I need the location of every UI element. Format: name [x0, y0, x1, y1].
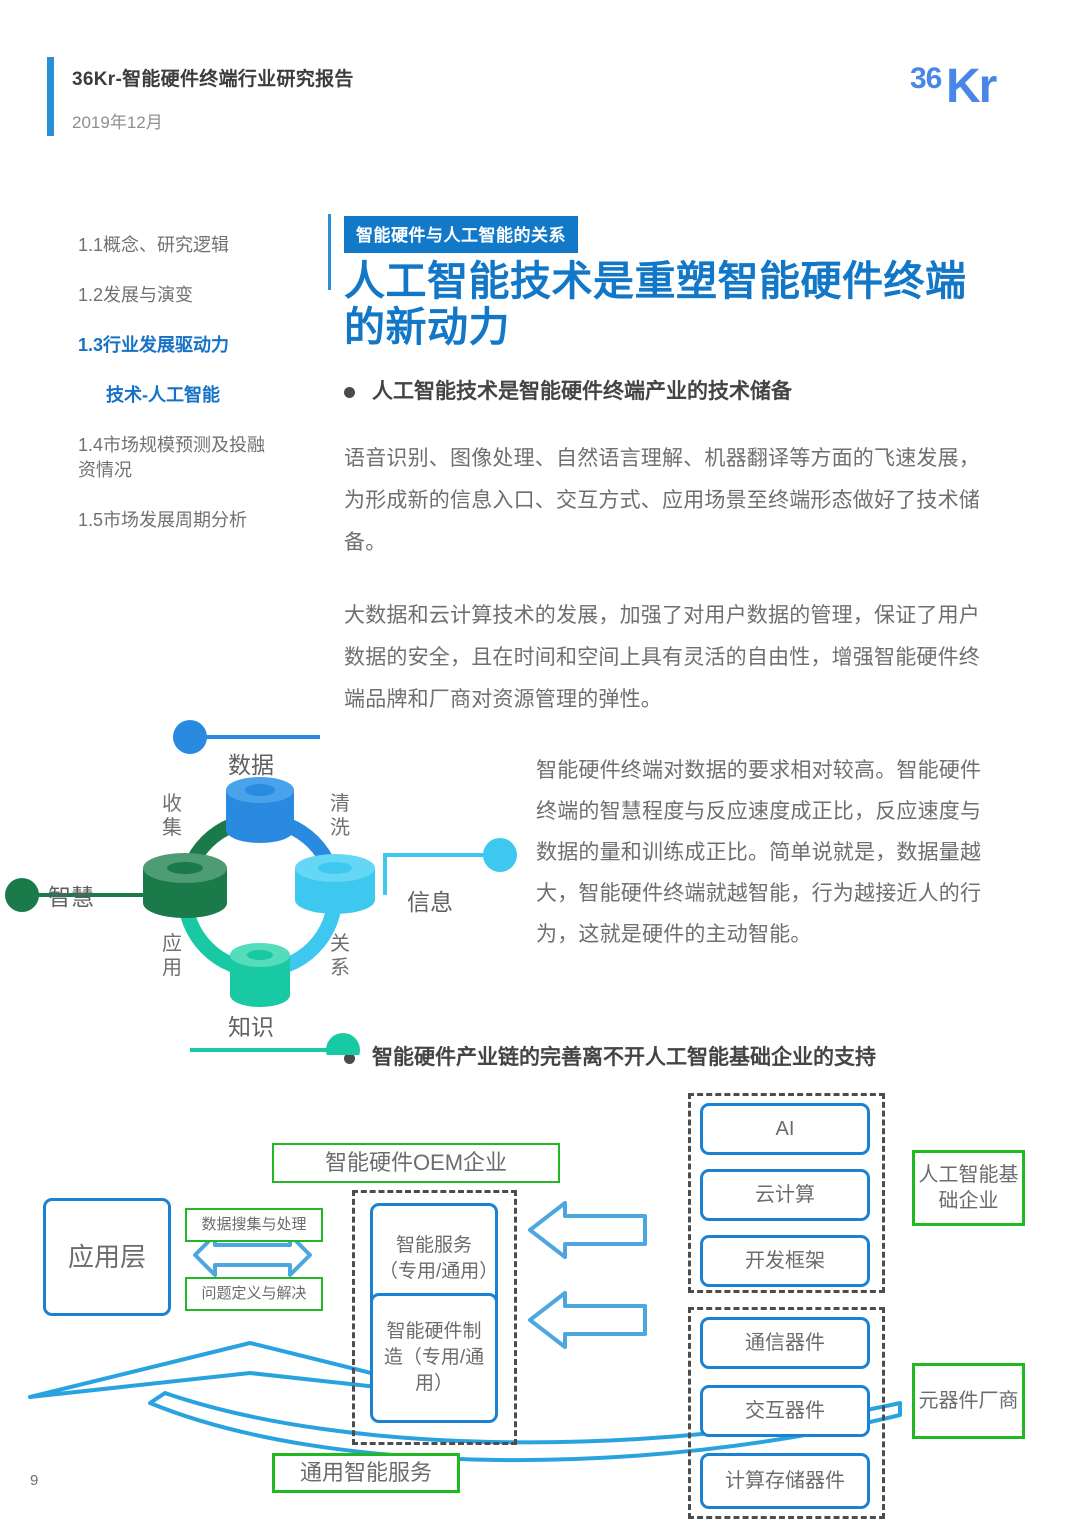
arrow-label-problem-solving: 问题定义与解决: [185, 1277, 323, 1311]
section-heading: 人工智能技术是重塑智能硬件终端的新动力: [344, 258, 984, 350]
36kr-logo: 36 Kr: [910, 56, 1040, 118]
component-box-compute-storage[interactable]: 计算存储器件: [700, 1453, 870, 1509]
app-layer-box[interactable]: 应用层: [43, 1198, 171, 1316]
disc-information: [295, 854, 375, 914]
component-box-interaction[interactable]: 交互器件: [700, 1385, 870, 1437]
section-badge: 智能硬件与人工智能的关系: [344, 216, 578, 253]
report-page: 36Kr-智能硬件终端行业研究报告 2019年12月 36 Kr 1.1概念、研…: [0, 0, 1080, 1527]
oem-box-smart-manufacturing[interactable]: 智能硬件制造（专用/通用）: [370, 1293, 498, 1423]
page-number: 9: [30, 1472, 38, 1489]
dikw-arc-label-relation: 关系: [330, 932, 350, 979]
dikw-label-data: 数据: [228, 752, 274, 778]
page-subtitle: 2019年12月: [72, 108, 163, 133]
sidebar-nav: 1.1概念、研究逻辑 1.2发展与演变 1.3行业发展驱动力 技术-人工智能 1…: [78, 233, 318, 558]
disc-wisdom: [143, 853, 227, 918]
disc-knowledge: [230, 943, 290, 1007]
dikw-label-knowledge: 知识: [228, 1014, 274, 1040]
sidebar-item-1-3-sub[interactable]: 技术-人工智能: [106, 383, 318, 408]
bullet-dot-icon: [344, 387, 355, 398]
node-dot-data: [173, 720, 207, 754]
arrow-left-icon-top: [530, 1203, 645, 1257]
ai-box-cloud-computing[interactable]: 云计算: [700, 1169, 870, 1221]
bullet-point-1-text: 人工智能技术是智能硬件终端产业的技术储备: [372, 375, 792, 408]
architecture-diagram: 应用层 数据搜集与处理 问题定义与解决 智能硬件OEM企业 智能服务（专用/通用…: [0, 1085, 1080, 1527]
dikw-arc-label-collect: 收集: [162, 792, 182, 839]
dikw-cycle-diagram: 数据 信息 知识 智慧 收集 清洗 关系 应用: [0, 705, 540, 1055]
paragraph-3: 智能硬件终端对数据的要求相对较高。智能硬件终端的智慧程度与反应速度成正比，反应速…: [536, 750, 996, 955]
ai-group-label: 人工智能基础企业: [912, 1150, 1025, 1226]
page-title: 36Kr-智能硬件终端行业研究报告: [72, 64, 354, 91]
bullet-point-1: 人工智能技术是智能硬件终端产业的技术储备: [344, 375, 992, 408]
sidebar-item-1-5[interactable]: 1.5市场发展周期分析: [78, 508, 318, 533]
dikw-label-wisdom: 智慧: [48, 884, 94, 910]
dikw-arc-label-apply: 应用: [162, 932, 182, 979]
disc-data: [226, 777, 294, 843]
sidebar-item-1-1[interactable]: 1.1概念、研究逻辑: [78, 233, 318, 258]
sidebar-item-1-3[interactable]: 1.3行业发展驱动力: [78, 333, 318, 358]
dikw-arc-label-clean: 清洗: [330, 792, 350, 839]
dikw-label-information: 信息: [407, 889, 453, 915]
arrow-left-icon-bottom: [530, 1293, 645, 1347]
sidebar-divider: [328, 214, 331, 290]
ai-box-ai[interactable]: AI: [700, 1103, 870, 1155]
bottom-arrow-label: 通用智能服务: [272, 1453, 460, 1493]
paragraph-1: 语音识别、图像处理、自然语言理解、机器翻译等方面的飞速发展，为形成新的信息入口、…: [344, 438, 996, 564]
node-dot-wisdom: [5, 878, 39, 912]
node-dot-info: [483, 838, 517, 872]
component-box-communication[interactable]: 通信器件: [700, 1317, 870, 1369]
oem-group-label: 智能硬件OEM企业: [272, 1143, 560, 1183]
arrow-label-data-collection: 数据搜集与处理: [185, 1208, 323, 1242]
node-dot-knowledge: [326, 1033, 360, 1055]
component-group-label: 元器件厂商: [912, 1363, 1025, 1439]
svg-text:36: 36: [910, 62, 942, 95]
svg-text:Kr: Kr: [946, 60, 997, 113]
ai-box-dev-framework[interactable]: 开发框架: [700, 1235, 870, 1287]
header-accent-bar: [47, 57, 54, 136]
paragraph-2: 大数据和云计算技术的发展，加强了对用户数据的管理，保证了用户数据的安全，且在时间…: [344, 595, 996, 721]
sidebar-item-1-4[interactable]: 1.4市场规模预测及投融 资情况: [78, 433, 318, 483]
sidebar-item-1-2[interactable]: 1.2发展与演变: [78, 283, 318, 308]
